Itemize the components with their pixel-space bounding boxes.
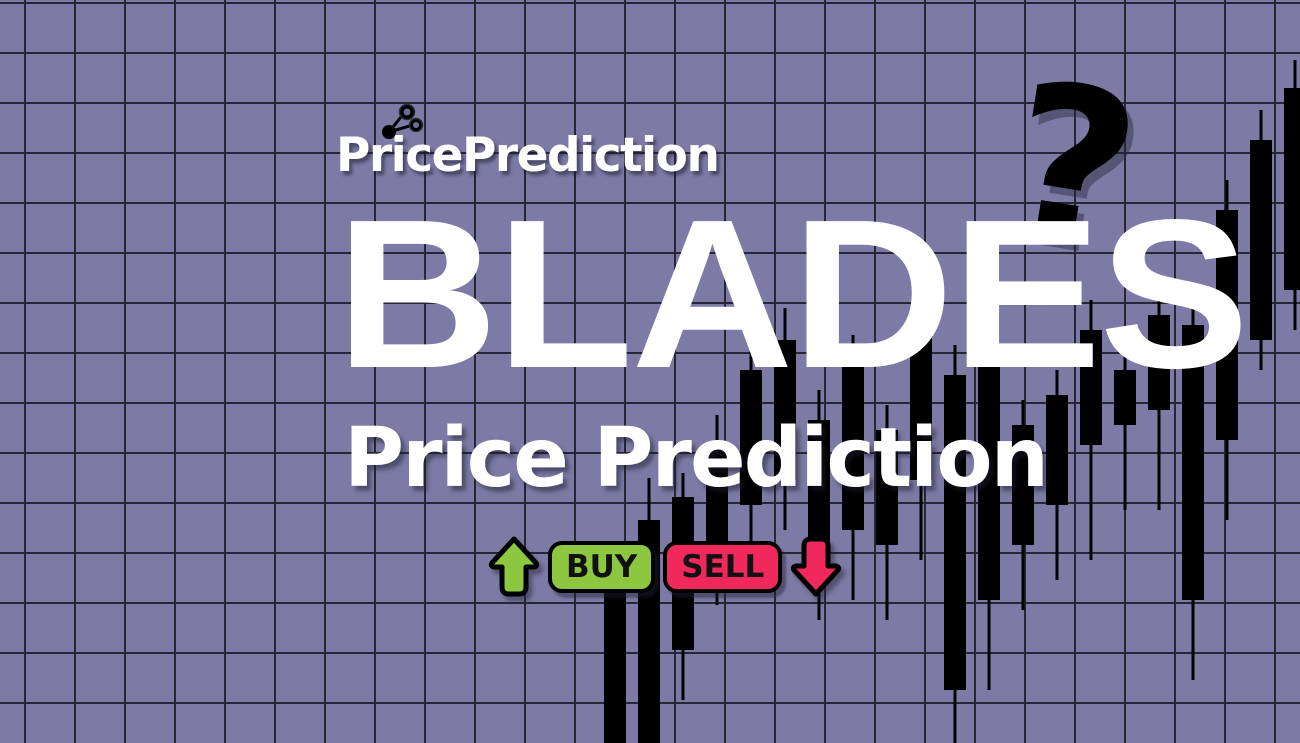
buy-button[interactable]: BUY	[548, 541, 655, 593]
candlestick-body	[1250, 140, 1272, 340]
brand-lockup: PricePrediction	[336, 132, 718, 179]
sell-button-label: SELL	[681, 549, 764, 585]
candlestick-body	[604, 583, 626, 743]
hero-banner: ? PricePrediction BLADES Price Predictio…	[0, 0, 1300, 743]
page-subtitle: Price Prediction	[344, 418, 1047, 500]
candlestick	[1250, 110, 1272, 370]
candlestick	[638, 478, 660, 743]
trade-action-row: BUY SELL	[488, 534, 842, 600]
candlestick	[1284, 60, 1300, 330]
arrow-down-icon[interactable]	[790, 536, 842, 598]
candlestick-body	[1284, 88, 1300, 290]
page-title: BLADES	[336, 188, 1247, 400]
arrow-up-icon[interactable]	[488, 536, 540, 598]
sell-button[interactable]: SELL	[663, 541, 782, 593]
buy-button-label: BUY	[566, 549, 637, 585]
network-nodes-icon	[380, 104, 426, 140]
